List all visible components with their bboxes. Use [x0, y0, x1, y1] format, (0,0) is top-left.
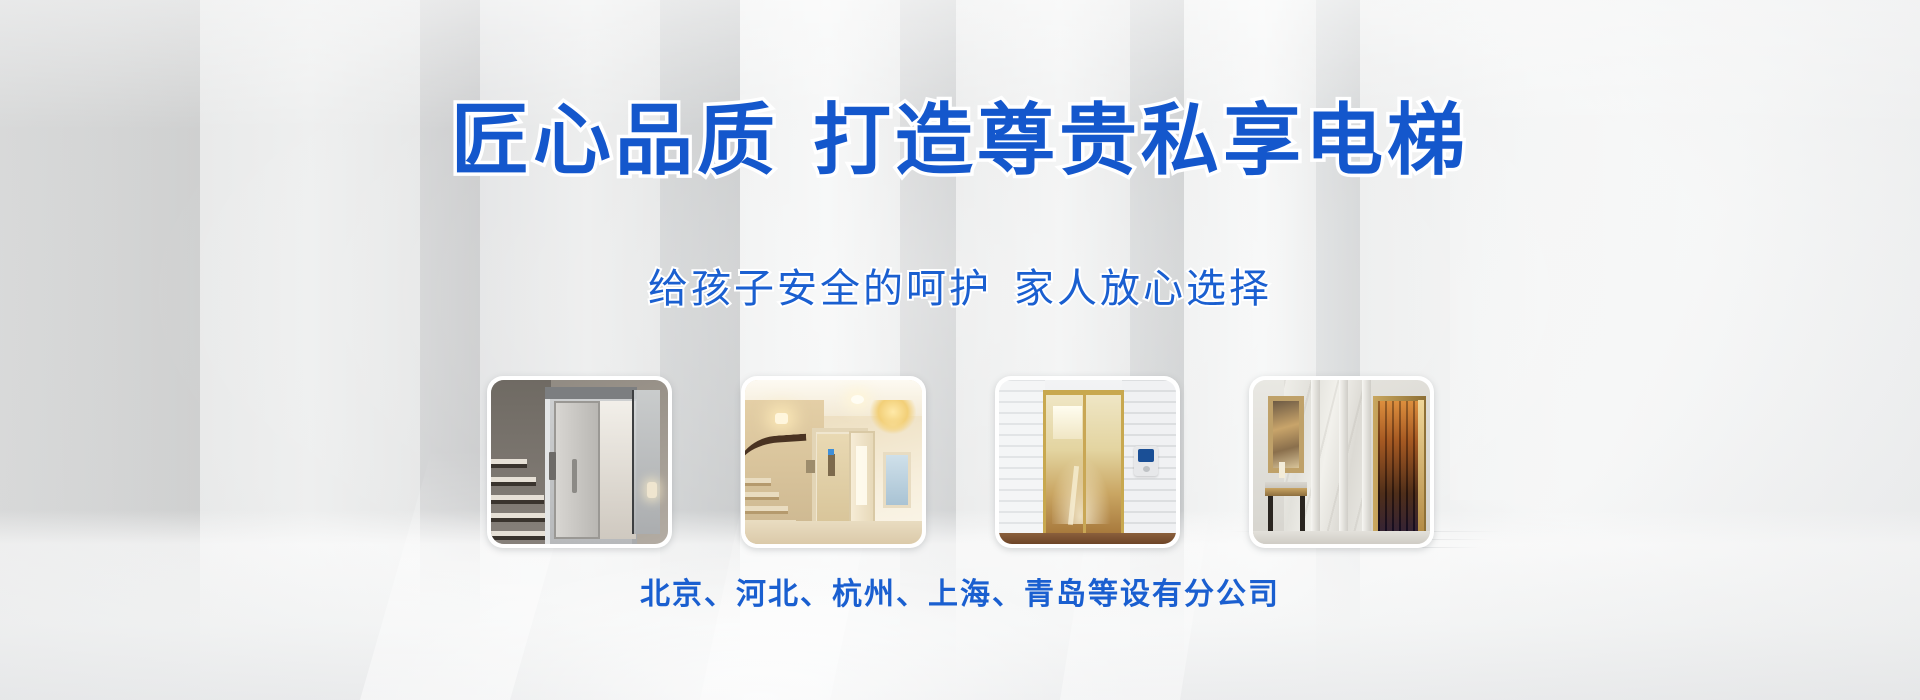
photo2-cabin-panel	[828, 454, 835, 476]
photo4-gold-post	[1418, 400, 1424, 534]
thumbnail-cream-hall-elevator[interactable]	[741, 376, 926, 548]
photo4-gold-framed-mirror	[1268, 396, 1303, 473]
photo1-call-panel	[549, 452, 556, 480]
photo4-pilaster	[1362, 380, 1371, 544]
photo3-door-split	[1083, 395, 1086, 533]
photo3-left-brick-wall	[999, 380, 1045, 544]
photo2-floor	[745, 521, 922, 544]
thumbnail-marble-lobby-elevator[interactable]	[1249, 376, 1434, 548]
photo1-wall-lamp	[647, 482, 657, 498]
photo4-floor	[1253, 531, 1430, 544]
photo-marble-lobby-elevator	[1253, 380, 1430, 544]
photo1-door-handle	[572, 459, 577, 493]
photo1-open-doorway	[600, 401, 635, 539]
photo4-table-lamp	[1279, 462, 1285, 478]
photo2-step	[745, 506, 788, 514]
photo2-handrail	[745, 433, 811, 494]
photo1-step	[491, 477, 536, 486]
headline: 匠心品质打造尊贵私享电梯	[0, 97, 1920, 183]
photo3-wood-floor	[999, 533, 1176, 544]
thumbnail-gallery	[0, 376, 1920, 548]
photo1-step	[491, 459, 528, 468]
photo3-call-panel	[1134, 446, 1158, 476]
headline-part-2: 打造尊贵私享电梯	[813, 96, 1469, 184]
thumbnail-gold-glass-door-elevator[interactable]	[995, 376, 1180, 548]
photo2-wall-sconce	[775, 413, 788, 424]
photo1-elevator-door	[554, 401, 600, 539]
photo1-door-header	[545, 387, 637, 399]
photo2-ceiling-downlight	[851, 395, 864, 404]
photo4-pilaster	[1339, 380, 1348, 544]
photo1-step	[491, 513, 553, 522]
photo2-chandelier	[870, 400, 916, 434]
photo1-glass-panel	[632, 390, 660, 534]
photo4-console-table-apron	[1265, 488, 1307, 496]
photo-gold-glass-door-elevator	[999, 380, 1176, 544]
photo3-reflected-window	[1053, 406, 1081, 439]
branch-offices-caption: 北京、河北、杭州、上海、青岛等设有分公司	[0, 574, 1920, 616]
photo2-door-glass	[856, 446, 867, 505]
banner-content: 匠心品质打造尊贵私享电梯 给孩子安全的呵护家人放心选择	[0, 0, 1920, 700]
headline-part-1: 匠心品质	[451, 96, 779, 184]
photo1-step	[491, 495, 545, 504]
photo4-elevator-cabin-interior	[1378, 401, 1420, 532]
thumbnail-silver-elevator-staircase[interactable]	[487, 376, 672, 548]
photo2-cabin-indicator	[828, 449, 834, 455]
photo-silver-elevator-staircase	[491, 380, 668, 544]
subheadline-part-2: 家人放心选择	[1014, 267, 1272, 311]
photo4-pilaster	[1311, 380, 1320, 544]
photo2-window	[883, 452, 911, 508]
subheadline: 给孩子安全的呵护家人放心选择	[0, 263, 1920, 315]
photo-cream-hall-elevator	[745, 380, 922, 544]
hero-banner: 匠心品质打造尊贵私享电梯 给孩子安全的呵护家人放心选择	[0, 0, 1920, 700]
photo2-call-button	[806, 460, 815, 473]
subheadline-part-1: 给孩子安全的呵护	[648, 267, 992, 311]
